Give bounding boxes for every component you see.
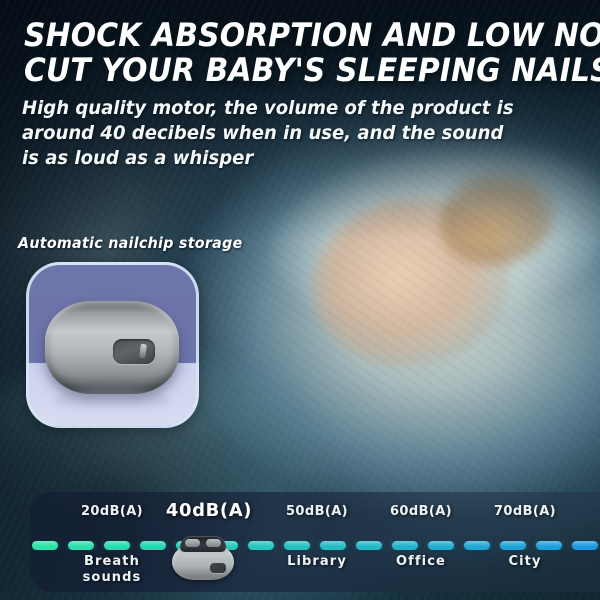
decibel-value-label: 60dB(A): [366, 504, 476, 519]
decibel-caption-label: Office: [366, 554, 476, 570]
marker-device-window-icon: [210, 563, 226, 573]
subtitle-line-2: around 40 decibels when in use, and the …: [22, 121, 469, 146]
decibel-dash: [32, 541, 58, 550]
decibel-dash: [536, 541, 562, 550]
decibel-scale: 20dB(A)Breathsounds40dB(A)50dB(A)Library…: [0, 492, 600, 600]
inset-product-card: [26, 262, 199, 428]
subtitle-line-1: High quality motor, the volume of the pr…: [22, 96, 469, 121]
device-window-icon: [113, 339, 155, 364]
subtitle-line-3: is as loud as a whisper: [22, 146, 469, 171]
decibel-dash: [572, 541, 598, 550]
decibel-dash: [428, 541, 454, 550]
decibel-dash: [68, 541, 94, 550]
headline: SHOCK ABSORPTION AND LOW NOISE CUT YOUR …: [24, 18, 584, 88]
decibel-dash: [464, 541, 490, 550]
decibel-dash: [248, 541, 274, 550]
decibel-dash: [500, 541, 526, 550]
decibel-value-label: 70dB(A): [470, 504, 580, 519]
decibel-gradient-bar: [32, 541, 600, 550]
decibel-value-label: 50dB(A): [262, 504, 372, 519]
marker-device-cap: [180, 536, 226, 552]
product-feature-poster: SHOCK ABSORPTION AND LOW NOISE CUT YOUR …: [0, 0, 600, 600]
decibel-product-marker: [172, 536, 234, 580]
decibel-dash: [140, 541, 166, 550]
headline-line-2: CUT YOUR BABY'S SLEEPING NAILS: [24, 53, 545, 88]
decibel-caption-label: Library: [262, 554, 372, 570]
device-reflection: [53, 388, 171, 418]
decibel-value-label: 40dB(A): [149, 500, 269, 521]
nailchip-storage-device: [45, 301, 179, 394]
decibel-dash: [356, 541, 382, 550]
decibel-dash: [320, 541, 346, 550]
headline-line-1: SHOCK ABSORPTION AND LOW NOISE: [24, 18, 545, 53]
decibel-caption-label: City: [470, 554, 580, 570]
decibel-dash: [284, 541, 310, 550]
decibel-dash: [392, 541, 418, 550]
decibel-dash: [104, 541, 130, 550]
inset-card-label: Automatic nailchip storage: [18, 234, 243, 252]
decibel-caption-label: Breathsounds: [57, 554, 167, 586]
subtitle: High quality motor, the volume of the pr…: [22, 96, 492, 171]
